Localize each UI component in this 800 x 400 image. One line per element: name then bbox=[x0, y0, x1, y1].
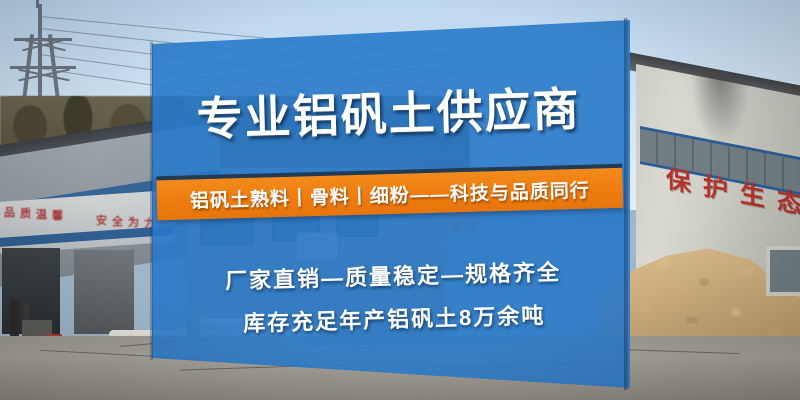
left-sign-char: 全 bbox=[112, 213, 123, 229]
left-sign-char: 质 bbox=[20, 205, 31, 221]
banner-subline-1: 厂家直销—质量稳定—规格齐全 bbox=[154, 253, 633, 298]
warehouse-shutter bbox=[74, 250, 134, 334]
wall-sign-char: 保 bbox=[666, 167, 691, 197]
left-sign-char: 馨 bbox=[52, 207, 63, 223]
banner-ribbon: 铝矾土熟料丨骨料丨细粉——科技与品质同行 bbox=[156, 164, 623, 221]
banner-ribbon-text: 铝矾土熟料丨骨料丨细粉——科技与品质同行 bbox=[190, 175, 591, 213]
banner-subline-2: 库存充足年产铝矾土8万余吨 bbox=[155, 295, 634, 340]
banner-image: 品 质 温 馨 安 全 为 力 保 护 生 态 bbox=[0, 0, 800, 400]
banner-headline: 专业铝矾土供应商 bbox=[149, 72, 629, 151]
wall-sign-char: 护 bbox=[703, 174, 728, 204]
left-sign-char: 品 bbox=[4, 204, 15, 220]
wall-sign-char: 态 bbox=[777, 188, 800, 218]
left-sign-char: 为 bbox=[128, 214, 139, 230]
banner-content: 专业铝矾土供应商 铝矾土熟料丨骨料丨细粉——科技与品质同行 厂家直销—质量稳定—… bbox=[147, 0, 636, 400]
right-building-window bbox=[766, 246, 800, 296]
left-sign-char: 温 bbox=[36, 206, 47, 222]
wall-sign-char: 生 bbox=[740, 181, 765, 211]
left-sign-char: 安 bbox=[96, 212, 107, 228]
